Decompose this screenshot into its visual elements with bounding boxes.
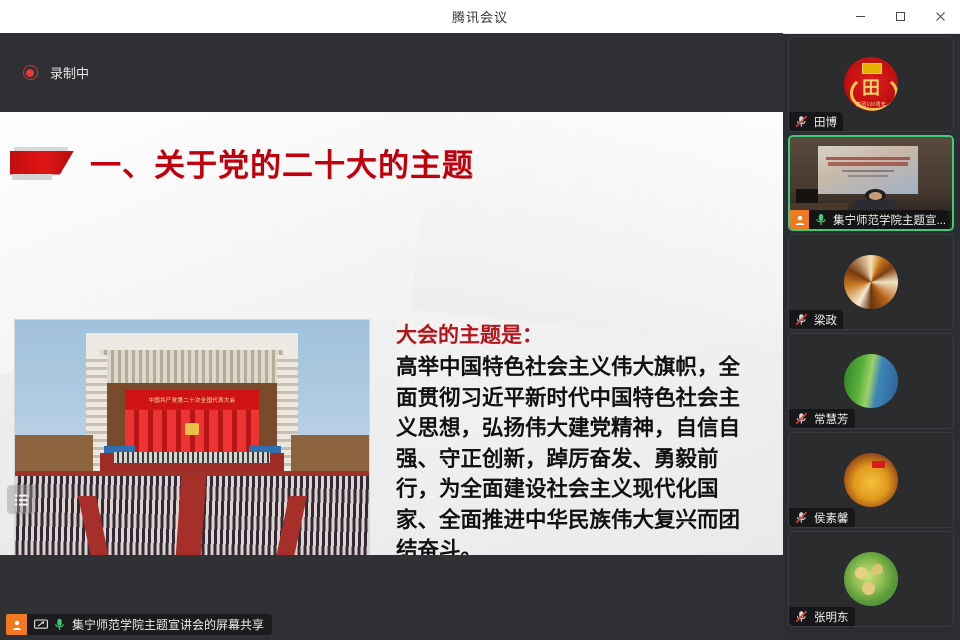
participant-name: 常慧芳 (814, 411, 849, 427)
avatar: 田 建团100周年 (844, 57, 898, 111)
slide-title-row: 一、关于党的二十大的主题 (0, 134, 783, 190)
window-controls (840, 0, 960, 33)
close-icon (935, 11, 946, 22)
microphone-on-icon (54, 618, 65, 631)
maximize-icon (895, 11, 906, 22)
congress-hall-photo: 中国共产党第二十次全国代表大会 (14, 319, 370, 555)
participant-name-strip: 常慧芳 (789, 409, 855, 428)
screen-share-glyph (34, 619, 48, 631)
participant-name-strip: 梁政 (789, 310, 843, 329)
tencent-meeting-window: 腾讯会议 (0, 0, 960, 640)
microphone-muted-glyph (795, 511, 808, 524)
person-icon (6, 614, 27, 635)
minimize-button[interactable] (840, 0, 880, 33)
red-banner-icon (10, 147, 76, 178)
window-title: 腾讯会议 (452, 7, 508, 26)
recording-label: 录制中 (50, 63, 89, 82)
screen-share-text: 集宁师范学院主题宣讲会的屏幕共享 (72, 616, 264, 633)
close-button[interactable] (920, 0, 960, 33)
list-menu-glyph (14, 493, 30, 507)
microphone-muted-icon (795, 511, 808, 524)
slide-title: 一、关于党的二十大的主题 (90, 140, 474, 185)
person-glyph (11, 619, 23, 631)
participant-tile-zhangmingdong[interactable]: 张明东 (788, 531, 954, 627)
title-bar: 腾讯会议 (0, 0, 960, 34)
photo-banner-text: 中国共产党第二十次全国代表大会 (148, 396, 235, 404)
recording-indicator[interactable] (22, 65, 38, 81)
shared-screen-slide[interactable]: 一、关于党的二十大的主题 中国共产党第二十次全国代表大会 (0, 112, 783, 555)
microphone-on-glyph (815, 213, 827, 226)
person-icon (790, 210, 809, 229)
microphone-muted-glyph (795, 115, 808, 128)
participant-name: 张明东 (814, 609, 849, 625)
screen-share-label: 集宁师范学院主题宣讲会的屏幕共享 (6, 614, 272, 635)
participant-name: 田博 (814, 114, 837, 130)
participant-tile-tianbo[interactable]: 田 建团100周年 田博 (788, 36, 954, 132)
microphone-muted-icon (795, 115, 808, 128)
microphone-on-icon (815, 213, 827, 226)
microphone-muted-icon (795, 412, 808, 425)
participant-name-strip: 集宁师范学院主题宣... (790, 210, 949, 229)
screen-share-icon (34, 619, 48, 631)
presentation-screen (818, 146, 918, 194)
avatar (844, 255, 898, 309)
avatar (844, 453, 898, 507)
list-menu-icon[interactable] (7, 485, 36, 514)
photo-banner: 中国共产党第二十次全国代表大会 (125, 390, 260, 409)
participant-name-strip: 田博 (789, 112, 843, 131)
microphone-on-glyph (54, 618, 65, 631)
participant-name: 侯素馨 (814, 510, 849, 526)
avatar-subtext: 建团100周年 (844, 101, 898, 108)
participant-name-strip: 侯素馨 (789, 508, 855, 527)
participant-tile-changhuifang[interactable]: 常慧芳 (788, 333, 954, 429)
participant-panel: 田 建团100周年 田博 (788, 36, 954, 627)
participant-name: 集宁师范学院主题宣... (833, 212, 945, 228)
microphone-muted-glyph (795, 610, 808, 623)
microphone-muted-glyph (795, 412, 808, 425)
party-emblem-icon (185, 423, 199, 435)
participant-tile-liangzheng[interactable]: 梁政 (788, 234, 954, 330)
participant-name-strip: 张明东 (789, 607, 855, 626)
participant-tile-active-speaker[interactable]: 集宁师范学院主题宣... (788, 135, 954, 231)
participant-name: 梁政 (814, 312, 837, 328)
microphone-muted-icon (795, 313, 808, 326)
recording-bar: 录制中 (0, 33, 783, 112)
minimize-icon (855, 11, 866, 22)
slide-paragraph: 高举中国特色社会主义伟大旗帜，全面贯彻习近平新时代中国特色社会主义思想，弘扬伟大… (396, 352, 758, 555)
person-glyph (794, 214, 806, 226)
maximize-button[interactable] (880, 0, 920, 33)
record-dot-icon (23, 65, 38, 80)
slide-lead-text: 大会的主题是： (396, 322, 758, 350)
avatar (844, 552, 898, 606)
microphone-muted-icon (795, 610, 808, 623)
avatar (844, 354, 898, 408)
avatar-initial: 田 (844, 74, 898, 100)
slide-body-text: 大会的主题是： 高举中国特色社会主义伟大旗帜，全面贯彻习近平新时代中国特色社会主… (396, 322, 758, 555)
microphone-muted-glyph (795, 313, 808, 326)
participant-tile-housuxin[interactable]: 侯素馨 (788, 432, 954, 528)
